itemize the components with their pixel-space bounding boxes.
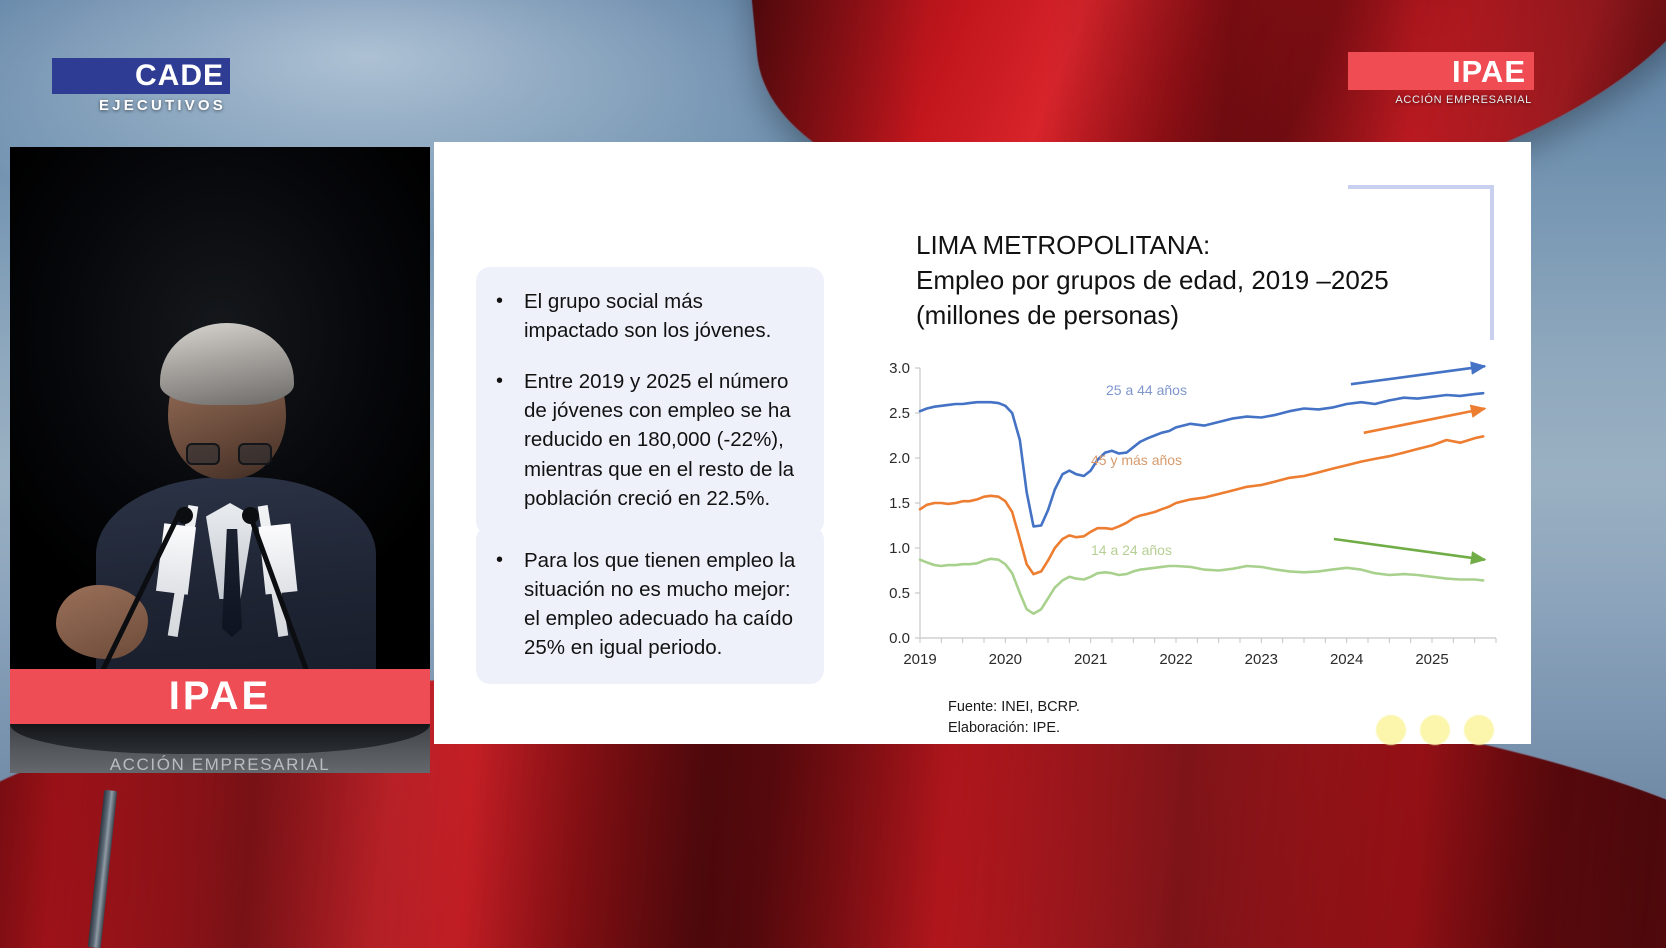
callout-box-2: • Para los que tienen empleo la situació… — [476, 526, 824, 684]
svg-text:2.5: 2.5 — [889, 405, 910, 422]
lower-third-banner: IPAE — [10, 669, 430, 724]
speaker-hand — [56, 585, 148, 659]
bullet-item: • Entre 2019 y 2025 el número de jóvenes… — [496, 367, 800, 513]
employment-line-chart: 0.00.51.01.52.02.53.02019202020212022202… — [862, 360, 1502, 680]
chart-canvas: 0.00.51.01.52.02.53.02019202020212022202… — [862, 360, 1502, 680]
svg-text:1.0: 1.0 — [889, 540, 910, 557]
callout-box-1: • El grupo social más impactado son los … — [476, 267, 824, 535]
cade-logo: CADE EJECUTIVOS — [52, 58, 230, 114]
bullet-item: • El grupo social más impactado son los … — [496, 287, 800, 345]
slide-title-line: Empleo por grupos de edad, 2019 –2025 — [916, 263, 1456, 298]
cade-logo-bar: CADE — [52, 58, 230, 94]
svg-text:3.0: 3.0 — [889, 360, 910, 377]
chart-source-note: Fuente: INEI, BCRP. Elaboración: IPE. — [948, 697, 1080, 739]
presentation-slide: • El grupo social más impactado son los … — [434, 142, 1531, 744]
slide-title-line: LIMA METROPOLITANA: — [916, 228, 1456, 263]
bullet-text: Entre 2019 y 2025 el número de jóvenes c… — [524, 367, 800, 513]
decorative-dot — [1464, 715, 1494, 745]
decorative-dot — [1376, 715, 1406, 745]
bullet-dot-icon: • — [496, 367, 508, 513]
svg-text:1.5: 1.5 — [889, 495, 910, 512]
svg-text:2025: 2025 — [1415, 651, 1448, 668]
svg-text:2022: 2022 — [1159, 651, 1192, 668]
microphone-head-right — [242, 507, 259, 524]
svg-text:2020: 2020 — [989, 651, 1022, 668]
bullet-item: • Para los que tienen empleo la situació… — [496, 546, 800, 662]
ipae-logo: IPAE ACCIÓN EMPRESARIAL — [1348, 52, 1534, 106]
bullet-dot-icon: • — [496, 287, 508, 345]
podium-label: ACCIÓN EMPRESARIAL — [10, 755, 430, 773]
svg-text:0.0: 0.0 — [889, 630, 910, 647]
cade-logo-text: CADE — [135, 61, 224, 91]
svg-text:2023: 2023 — [1245, 651, 1278, 668]
speaker-video-panel[interactable]: ACCIÓN EMPRESARIAL ACCIÓ IPAE — [10, 147, 430, 773]
cade-logo-subtitle: EJECUTIVOS — [52, 97, 230, 114]
slide-title: LIMA METROPOLITANA: Empleo por grupos de… — [916, 228, 1456, 333]
lower-third-text: IPAE — [169, 674, 271, 719]
ipae-logo-text: IPAE — [1452, 56, 1526, 87]
svg-text:2024: 2024 — [1330, 651, 1363, 668]
ipae-logo-bar: IPAE — [1348, 52, 1534, 90]
ipae-logo-subtitle: ACCIÓN EMPRESARIAL — [1348, 94, 1534, 106]
source-line: Elaboración: IPE. — [948, 718, 1080, 739]
bullet-dot-icon: • — [496, 546, 508, 662]
svg-text:2.0: 2.0 — [889, 450, 910, 467]
series-label-25-44: 25 a 44 años — [1106, 382, 1187, 398]
slide-broadcast-frame: CADE EJECUTIVOS IPAE ACCIÓN EMPRESARIAL … — [0, 0, 1666, 948]
microphone-head-left — [176, 507, 193, 524]
svg-text:2021: 2021 — [1074, 651, 1107, 668]
svg-text:2019: 2019 — [903, 651, 936, 668]
source-line: Fuente: INEI, BCRP. — [948, 697, 1080, 718]
series-label-14-24: 14 a 24 años — [1091, 542, 1172, 558]
svg-text:0.5: 0.5 — [889, 585, 910, 602]
bullet-text: El grupo social más impactado son los jó… — [524, 287, 800, 345]
bullet-text: Para los que tienen empleo la situación … — [524, 546, 800, 662]
series-label-45-plus: 45 y más años — [1091, 452, 1182, 468]
speaker-glasses-icon — [186, 443, 272, 465]
slide-title-line: (millones de personas) — [916, 298, 1456, 333]
decorative-dot — [1420, 715, 1450, 745]
